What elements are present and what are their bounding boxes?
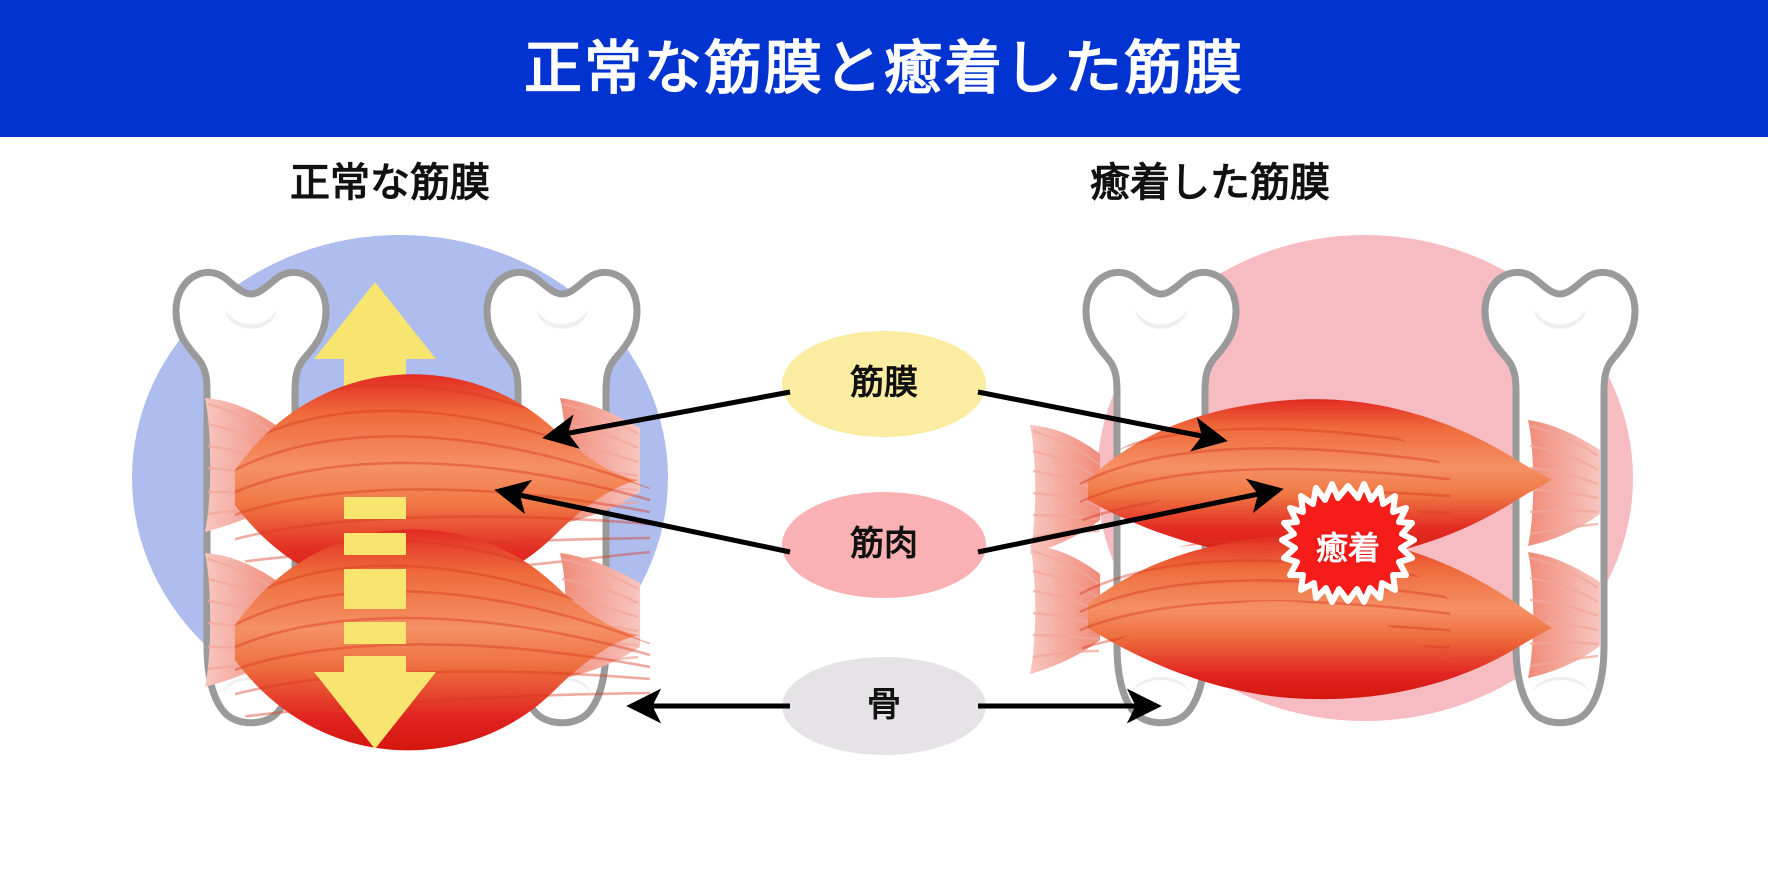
panel-adhesed-fascia <box>1030 235 1635 723</box>
legend-label-bone: 骨 <box>784 688 984 722</box>
diagram-page: 正常な筋膜と癒着した筋膜 正常な筋膜 癒着した筋膜 <box>0 0 1768 893</box>
adhesion-badge-label: 癒着 <box>1288 532 1408 564</box>
legend-label-fascia: 筋膜 <box>784 366 984 400</box>
diagram-canvas <box>0 0 1768 893</box>
panel-normal-fascia <box>132 235 668 750</box>
legend-label-muscle: 筋肉 <box>784 527 984 561</box>
